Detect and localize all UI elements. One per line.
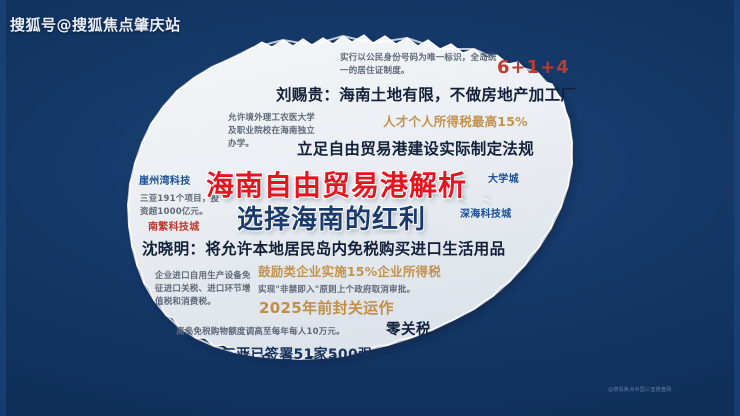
tag-university-town: 大学城 (488, 174, 519, 187)
tag-nanfan-tech-city: 南繁科技城 (148, 222, 200, 235)
line-local-regulation: 立足自由贸易港建设实际制定法规 (297, 140, 534, 159)
headline-shen-xiaoming: 沈晓明：将允许本地居民岛内免税购买进口生活用品 (142, 240, 505, 259)
watermark-bottom-right: @搜狐焦点中国三亚楼盘网 (608, 386, 672, 393)
page-title-main: 海南自由贸易港解析 (206, 164, 467, 204)
tag-yazhouwan-tech: 崖州湾科技 (139, 176, 191, 189)
line-sanya-fortune500: 三亚已签署51家500强 (222, 347, 372, 365)
infographic-canvas: ⺀⺀ 实行以公民身份号码为唯一标识，全岛统一的居住证制度。 6+1+4 刘赐贵：… (0, 0, 740, 416)
badge-6-1-4: 6+1+4 (497, 57, 570, 80)
note-approval-removal: 实现"非禁即入"原则上个政府取消审批。 (258, 284, 468, 297)
note-duty-free-quota: 离岛免税购物额度调高至每年每人10万元。 (176, 326, 386, 339)
line-zero-tariff: 零关税 (386, 321, 431, 339)
tax-corporate-income: 鼓励类企业实施15%企业所得税 (258, 264, 441, 280)
watermark-top-left: 搜狐号@搜狐焦点肇庆站 (10, 14, 181, 35)
text-layer: 实行以公民身份号码为唯一标识，全岛统一的居住证制度。 6+1+4 刘赐贵：海南土… (0, 0, 740, 416)
line-2025-closure: 2025年前封关运作 (259, 299, 394, 318)
tag-deepsea-tech-city: 深海科技城 (460, 209, 512, 222)
note-import-equipment: 企业进口自用生产设备免征进口关税、进口环节增值税和消费税。 (155, 270, 251, 310)
page-title-sub: 选择海南的红利 (237, 199, 426, 236)
note-id-system: 实行以公民身份号码为唯一标识，全岛统一的居住证制度。 (340, 52, 500, 78)
tax-personal-income: 人才个人所得税最高15% (383, 114, 528, 130)
headline-liu-xigui: 刘赐贵：海南土地有限，不做房地产加工厂 (276, 86, 576, 105)
